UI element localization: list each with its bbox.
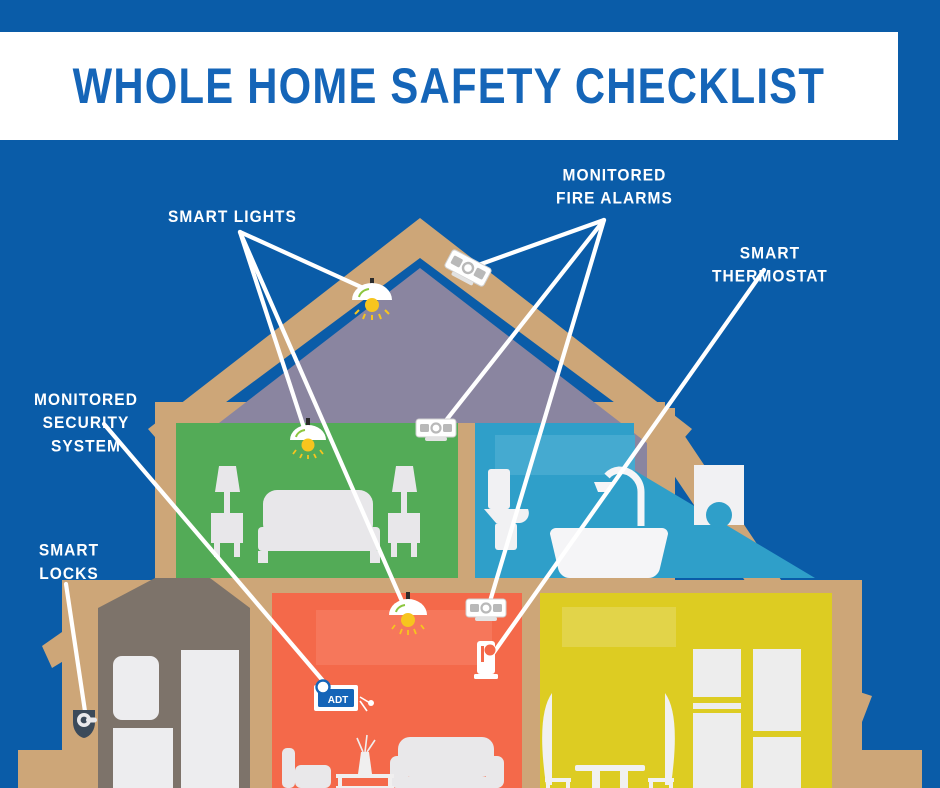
furniture-washing-machine [694, 465, 744, 528]
callout-smart-locks: SMART LOCKS [30, 540, 108, 586]
callout-monitored-fire-alarms: MONITORED FIRE ALARMS [556, 165, 673, 211]
page-title: Whole Home Safety Checklist [73, 57, 826, 114]
kitchen-art [562, 607, 676, 647]
infographic-canvas: Whole Home Safety Checklist [0, 0, 940, 788]
room-bedroom [176, 423, 458, 578]
callout-smart-thermostat: SMART THERMOSTAT [712, 243, 828, 289]
room-living-room [272, 593, 522, 788]
house-cutaway-illustration: ADT [0, 140, 940, 788]
room-kitchen [540, 593, 832, 788]
callout-smart-lights: SMART LIGHTS [168, 206, 297, 229]
room-garage [98, 578, 250, 788]
callout-monitored-security-system: MONITORED SECURITY SYSTEM [26, 389, 146, 458]
security-panel-label: ADT [328, 695, 349, 706]
furniture-sofa [390, 737, 504, 788]
title-banner: Whole Home Safety Checklist [0, 32, 898, 140]
